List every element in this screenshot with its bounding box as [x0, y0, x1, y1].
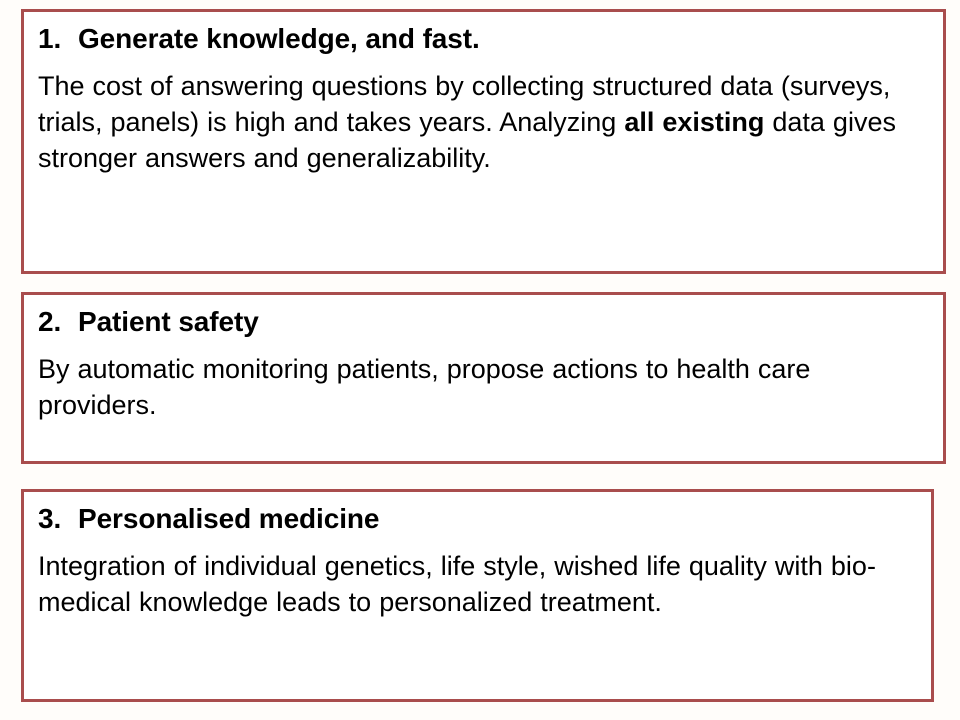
- content-card-2: 2. Patient safety By automatic monitorin…: [21, 292, 946, 464]
- card-2-body: By automatic monitoring patients, propos…: [38, 352, 929, 424]
- card-2-body-part-1: By automatic monitoring patients, propos…: [38, 354, 810, 420]
- card-3-heading: 3. Personalised medicine: [38, 502, 917, 535]
- card-2-heading-text: Patient safety: [78, 305, 259, 338]
- card-3-body: Integration of individual genetics, life…: [38, 549, 917, 621]
- content-card-3: 3. Personalised medicine Integration of …: [21, 489, 934, 702]
- card-1-body-emphasis: all existing: [624, 107, 764, 137]
- card-3-inner: 3. Personalised medicine Integration of …: [24, 492, 931, 629]
- card-2-number: 2.: [38, 305, 78, 338]
- card-3-number: 3.: [38, 502, 78, 535]
- slide-canvas: 1. Generate knowledge, and fast. The cos…: [0, 0, 960, 720]
- card-2-heading: 2. Patient safety: [38, 305, 929, 338]
- content-card-1: 1. Generate knowledge, and fast. The cos…: [21, 9, 946, 274]
- card-1-heading-text: Generate knowledge, and fast.: [78, 22, 480, 55]
- card-1-number: 1.: [38, 22, 78, 55]
- card-1-body: The cost of answering questions by colle…: [38, 69, 929, 177]
- card-1-heading: 1. Generate knowledge, and fast.: [38, 22, 929, 55]
- card-3-heading-text: Personalised medicine: [78, 502, 379, 535]
- card-3-body-part-1: Integration of individual genetics, life…: [38, 551, 876, 617]
- card-2-inner: 2. Patient safety By automatic monitorin…: [24, 295, 943, 432]
- card-1-inner: 1. Generate knowledge, and fast. The cos…: [24, 12, 943, 185]
